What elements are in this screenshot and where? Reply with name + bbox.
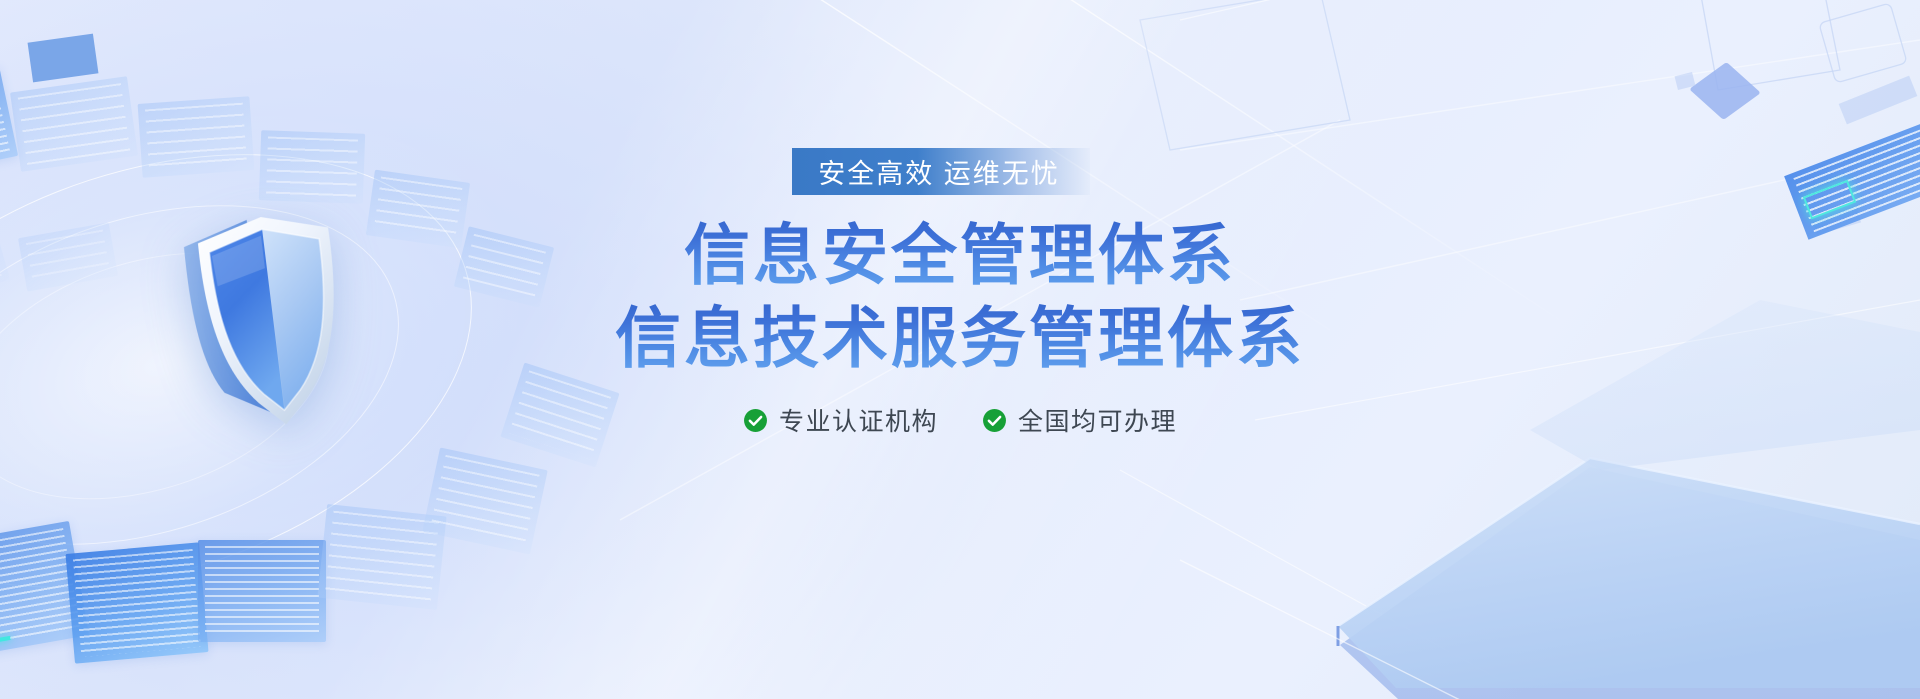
feature-item: 专业认证机构 xyxy=(743,402,938,438)
tagline-badge: 安全高效 运维无忧 xyxy=(792,148,1090,195)
headline-line-1: 信息安全管理体系 xyxy=(684,217,1236,294)
hero-banner: 安全高效 运维无忧 信息安全管理体系 信息技术服务管理体系 专业认证机构 全国均… xyxy=(0,0,1920,699)
check-circle-icon xyxy=(982,408,1007,433)
headline-line-2: 信息技术服务管理体系 xyxy=(615,300,1305,377)
hero-content: 安全高效 运维无忧 信息安全管理体系 信息技术服务管理体系 专业认证机构 全国均… xyxy=(0,0,1920,699)
feature-label: 专业认证机构 xyxy=(779,402,938,438)
tagline-text: 安全高效 运维无忧 xyxy=(818,152,1060,191)
check-circle-icon xyxy=(743,408,768,433)
feature-label: 全国均可办理 xyxy=(1018,402,1177,438)
feature-list: 专业认证机构 全国均可办理 xyxy=(743,402,1177,438)
page-title: 信息安全管理体系 信息技术服务管理体系 xyxy=(615,217,1305,376)
feature-item: 全国均可办理 xyxy=(982,402,1177,438)
